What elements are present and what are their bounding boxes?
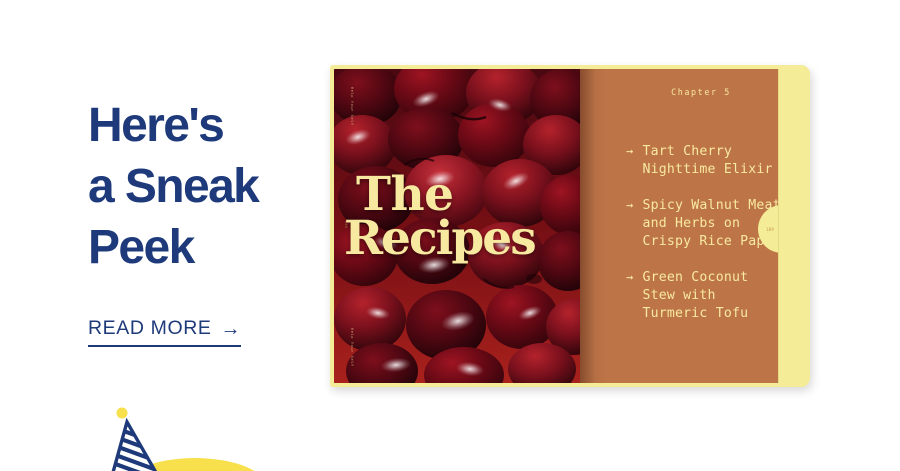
page-tab-label: 109 (766, 227, 774, 232)
arrow-right-icon: → (221, 319, 242, 339)
cover-caption-bottom-left: Help Your Self (350, 328, 354, 367)
headline-line-1: Here's (88, 96, 318, 157)
arrow-right-icon: → (626, 269, 633, 323)
arrow-right-icon: → (626, 197, 633, 251)
page-title: Here's a Sneak Peek (88, 96, 318, 279)
yellow-blob-shape (123, 458, 267, 471)
hat-pompom-dot (117, 408, 128, 419)
list-item[interactable]: → Tart Cherry Nighttime Elixir (626, 143, 784, 179)
read-more-link[interactable]: READ MORE → (88, 317, 241, 347)
book-page-edge (778, 69, 806, 383)
cover-title-line-2: Recipes (344, 217, 580, 261)
hat-stripes (106, 414, 164, 471)
read-more-label: READ MORE (88, 317, 212, 340)
promo-text-block: Here's a Sneak Peek READ MORE → (88, 96, 318, 279)
cherry-cover-photo: Help Your Self 108 Help Your Self The Re… (334, 69, 580, 383)
promo-banner: Here's a Sneak Peek READ MORE → (0, 0, 900, 471)
headline-line-2: a Sneak (88, 157, 318, 218)
arrow-right-icon: → (626, 143, 633, 179)
cover-title: The Recipes (356, 173, 580, 261)
recipe-title: Tart Cherry Nighttime Elixir (642, 143, 784, 179)
hat-body (112, 422, 158, 471)
chapter-label: Chapter 5 (580, 87, 806, 97)
list-item[interactable]: → Green Coconut Stew with Turmeric Tofu (626, 269, 784, 323)
cover-caption-top-left: Help Your Self (350, 87, 354, 126)
headline-line-3: Peek (88, 218, 318, 279)
recipe-book-card[interactable]: Help Your Self 108 Help Your Self The Re… (330, 65, 810, 387)
recipe-contents-panel: Chapter 5 → Tart Cherry Nighttime Elixir… (580, 69, 806, 383)
hat-outline (112, 422, 158, 471)
recipe-title: Green Coconut Stew with Turmeric Tofu (642, 269, 784, 323)
card-inner-frame: Help Your Self 108 Help Your Self The Re… (334, 69, 806, 383)
party-hat-decoration (100, 404, 300, 471)
